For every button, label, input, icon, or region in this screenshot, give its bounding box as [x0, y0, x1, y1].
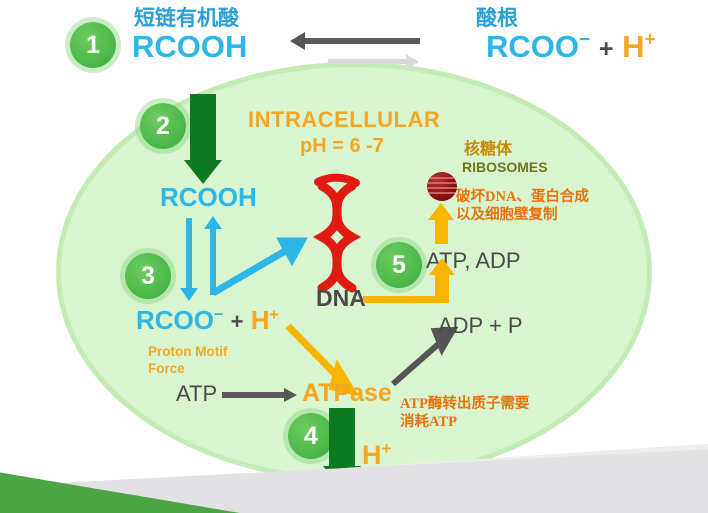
label-intracellular-dissociation: RCOO− + H+ — [136, 306, 279, 334]
influx-arrow-shaft — [190, 94, 216, 160]
badge-step-5-label: 5 — [392, 251, 406, 280]
atp-to-ribosome-shaft — [435, 219, 448, 244]
badge-step-5: 5 — [376, 242, 422, 288]
dissociation-arrow-down-head — [180, 288, 198, 301]
label-intracellular-rcooh: RCOOH — [160, 183, 257, 211]
label-intracellular-proton: H — [251, 305, 270, 335]
label-adp-p: ADP + P — [438, 314, 523, 338]
proton-efflux-arrow-shaft — [329, 408, 355, 466]
note-atpase-consumes-atp: ATP酶转出质子需要 消耗ATP — [400, 396, 529, 432]
association-arrow-up-shaft — [210, 229, 216, 295]
label-proton: H — [622, 29, 644, 64]
note-ribosome-damage: 破坏DNA、蛋白合成 以及细胞壁复制 — [456, 189, 589, 225]
label-intracellular: INTRACELLULAR — [248, 108, 440, 132]
influx-arrow-head — [184, 160, 222, 184]
label-rcoo-charge: − — [579, 30, 590, 51]
label-intracellular-proton-charge: + — [270, 305, 279, 323]
ribosome-icon — [427, 172, 457, 201]
equilibrium-arrow-right-shaft — [328, 59, 406, 64]
label-extracellular-rcooh: RCOOH — [132, 30, 247, 63]
equilibrium-arrow-left-head — [290, 32, 305, 50]
badge-step-2: 2 — [140, 103, 186, 149]
atp-to-ribosome-head — [428, 203, 454, 220]
label-intracellular-rcoo-charge: − — [214, 305, 223, 323]
label-dna: DNA — [316, 286, 366, 311]
label-ribosomes-cn: 核糖体 — [464, 141, 512, 158]
badge-step-2-label: 2 — [156, 112, 170, 141]
dna-to-atp-elbow-head — [429, 258, 455, 275]
label-exported-proton-charge: + — [382, 439, 392, 458]
label-rcoo-anion: RCOO — [486, 29, 579, 64]
atp-to-atpase-head — [284, 388, 297, 402]
label-exported-proton-symbol: H — [362, 440, 382, 470]
badge-step-4-label: 4 — [304, 422, 318, 451]
badge-step-4: 4 — [288, 413, 334, 459]
equilibrium-arrow-right-head — [406, 54, 419, 70]
label-intracellular-rcoo-anion: RCOO — [136, 305, 214, 335]
association-arrow-up-head — [204, 216, 222, 229]
badge-step-1: 1 — [70, 22, 116, 68]
diagram-canvas: 1 短链有机酸 RCOOH 酸根 RCOO− + H+ 2 INTRACELLU… — [0, 0, 708, 513]
badge-step-3-label: 3 — [141, 262, 155, 291]
atp-to-atpase-shaft — [222, 392, 284, 398]
label-ribosomes-en: RIBOSOMES — [462, 160, 548, 175]
dissociation-arrow-down-shaft — [186, 218, 192, 288]
dna-to-atp-elbow-vertical — [435, 275, 449, 303]
label-atpase: ATPase — [302, 380, 392, 407]
label-exported-proton: H+ — [362, 440, 391, 470]
label-acid-radical-cn: 酸根 — [476, 8, 518, 31]
label-intracellular-plus: + — [231, 309, 244, 334]
label-extracellular-dissociation: RCOO− + H+ — [486, 30, 656, 63]
label-proton-motif-force: Proton Motif Force — [148, 344, 227, 378]
equilibrium-arrow-left-shaft — [305, 38, 420, 44]
badge-step-3: 3 — [125, 253, 171, 299]
label-ph: pH = 6 -7 — [300, 136, 384, 158]
proton-efflux-arrow-head — [323, 466, 361, 490]
label-plus-sign: + — [599, 35, 614, 63]
badge-step-1-label: 1 — [86, 31, 100, 60]
footer-band-green — [0, 461, 240, 513]
label-short-chain-organic-acid-cn: 短链有机酸 — [134, 8, 239, 31]
label-proton-charge: + — [644, 30, 655, 51]
label-atp: ATP — [176, 382, 217, 406]
